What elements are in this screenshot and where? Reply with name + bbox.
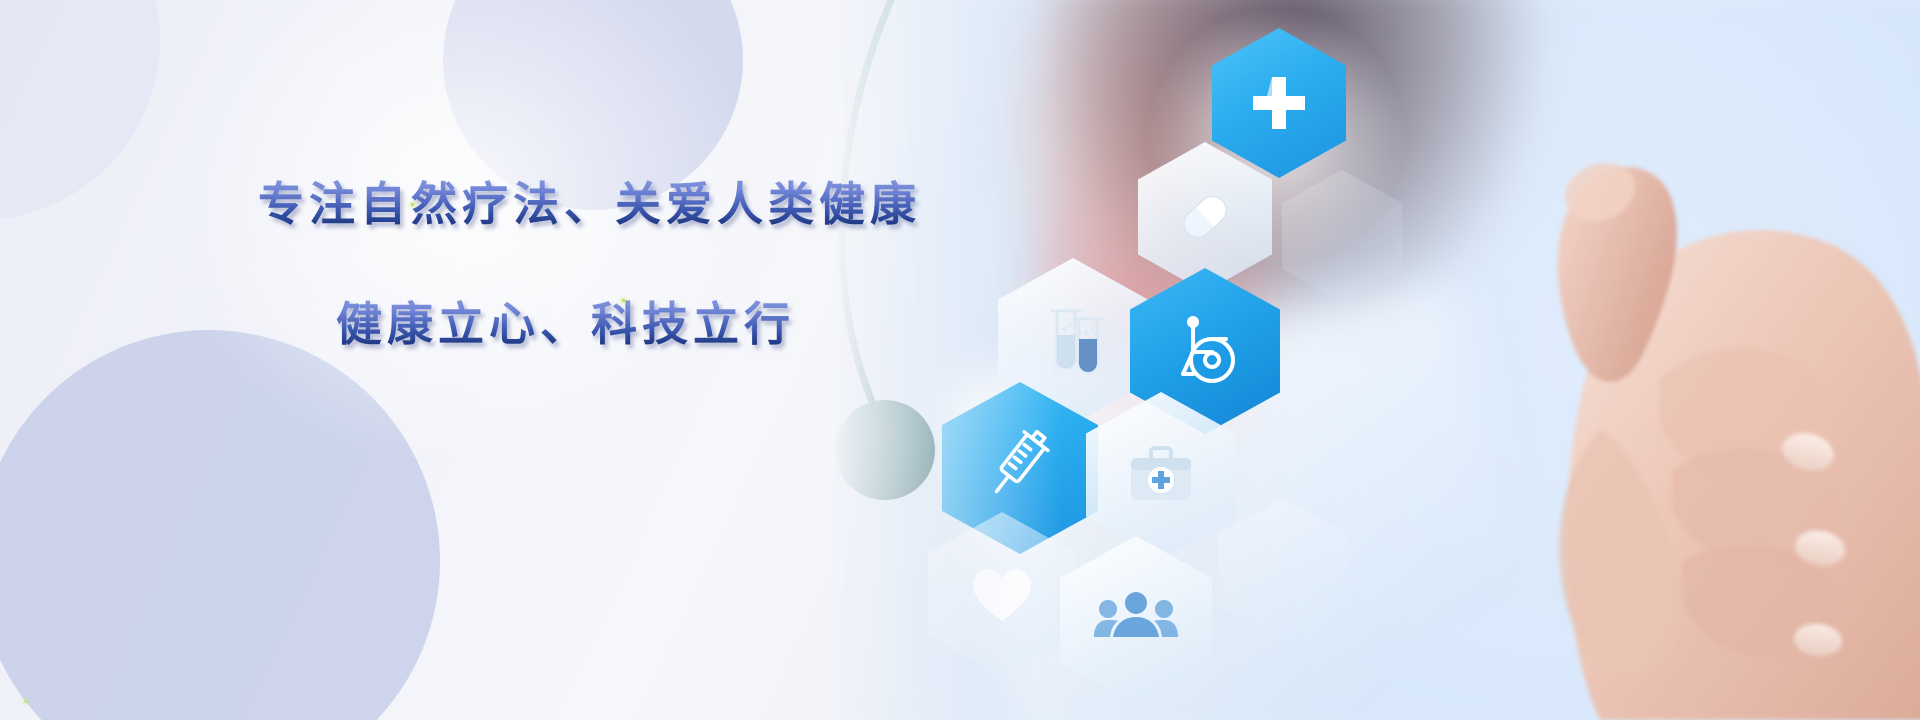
- sparkle-dot: [24, 700, 27, 703]
- hero-banner: 专注自然疗法、关爱人类健康 健康立心、科技立行: [0, 0, 1920, 720]
- decorative-circle-bottom: [0, 330, 440, 720]
- headline-line-1: 专注自然疗法、关爱人类健康: [258, 176, 978, 232]
- hex-medical-cross[interactable]: [1212, 28, 1346, 178]
- test-tubes-icon: [1037, 301, 1109, 381]
- medical-cross-icon: [1245, 69, 1313, 137]
- hex-family-group[interactable]: [1060, 536, 1212, 704]
- sparkle-dot: [622, 299, 625, 302]
- hex-decorative: [1218, 498, 1348, 642]
- first-aid-kit-icon: [1123, 440, 1199, 510]
- wheelchair-icon: [1166, 312, 1244, 390]
- headline-block: 专注自然疗法、关爱人类健康 健康立心、科技立行: [258, 176, 978, 352]
- decorative-circle-corner: [0, 0, 160, 220]
- heart-icon: [967, 561, 1037, 627]
- hex-heart[interactable]: [928, 512, 1076, 676]
- photo-composition: [830, 0, 1920, 720]
- hexagon-icon-cluster: [830, 0, 1920, 720]
- family-group-icon: [1094, 589, 1178, 651]
- sparkle-dot: [411, 203, 414, 206]
- hex-decorative: [1282, 170, 1402, 302]
- headline-line-2: 健康立心、科技立行: [336, 296, 978, 352]
- pill-capsule-icon: [1168, 180, 1242, 254]
- syringe-icon: [977, 425, 1063, 511]
